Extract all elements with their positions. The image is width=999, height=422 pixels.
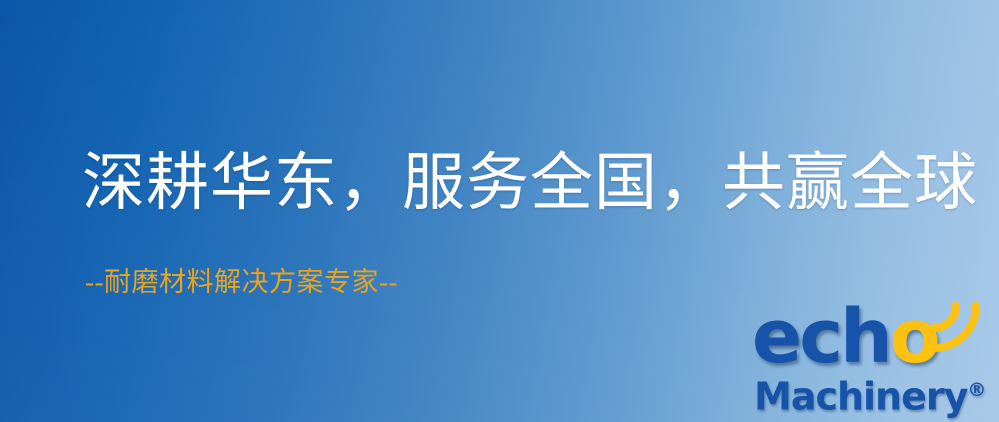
logo-wordmark: echo (752, 300, 938, 374)
echo-machinery-logo: echo Machinery® (752, 300, 992, 418)
logo-wordmark-primary: ech (752, 294, 890, 380)
signal-waves-icon (924, 296, 984, 356)
promo-banner: 深耕华东，服务全国，共赢全球 --耐磨材料解决方案专家-- echo Machi… (0, 0, 999, 422)
banner-subheadline: --耐磨材料解决方案专家-- (85, 266, 398, 298)
banner-headline: 深耕华东，服务全国，共赢全球 (82, 148, 942, 219)
logo-tagline-wrap: Machinery® (754, 370, 986, 417)
registered-trademark-icon: ® (967, 379, 986, 401)
logo-tagline-text: Machinery (754, 375, 967, 419)
